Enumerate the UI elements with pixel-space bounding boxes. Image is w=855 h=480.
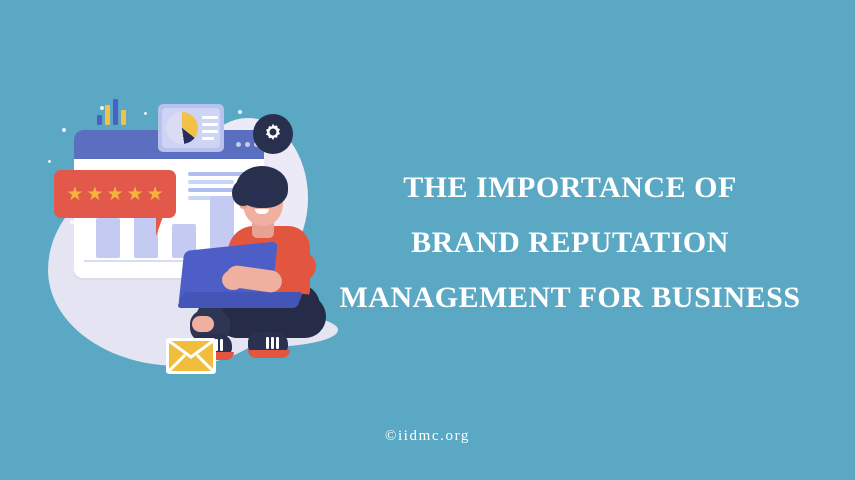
sparkle-dot	[238, 110, 242, 114]
shoe-stripe	[266, 337, 269, 349]
star-icon: ★	[147, 185, 164, 204]
page-title: THE IMPORTANCE OF BRAND REPUTATION MANAG…	[310, 160, 830, 325]
person-brow	[265, 191, 274, 193]
pie-legend-line	[202, 116, 218, 119]
pie-legend-line	[202, 137, 214, 140]
person-ankle	[192, 316, 214, 332]
person-shoe-right	[248, 332, 290, 358]
star-icon: ★	[106, 185, 123, 204]
envelope-flap-icon	[169, 341, 213, 371]
sparkle-dot	[144, 112, 147, 115]
window-dot	[236, 142, 241, 147]
star-icon: ★	[86, 185, 103, 204]
bar-chart-icon-bar	[105, 105, 110, 125]
sparkle-dot	[100, 106, 104, 110]
dashboard-text-line	[188, 180, 234, 184]
star-rating-icon: ★ ★ ★ ★ ★	[54, 170, 176, 218]
person-hand	[222, 270, 244, 290]
bar-chart-icon-bar	[121, 110, 126, 125]
hero-illustration: ★ ★ ★ ★ ★	[40, 88, 340, 388]
dashboard-bar	[96, 218, 120, 258]
dashboard-text-line	[188, 172, 246, 176]
bar-chart-icon-bar	[97, 115, 102, 125]
shoe-stripe	[220, 339, 223, 351]
title-line-1: THE IMPORTANCE OF	[310, 160, 830, 215]
pie-legend-line	[202, 130, 218, 133]
title-line-2: BRAND REPUTATION	[310, 215, 830, 270]
gear-icon	[261, 122, 285, 146]
sparkle-dot	[62, 128, 66, 132]
gear-badge	[253, 114, 293, 154]
pie-legend-line	[202, 123, 218, 126]
poster-canvas: ★ ★ ★ ★ ★	[0, 0, 855, 480]
person-eye	[252, 196, 256, 201]
pie-chart-icon	[166, 112, 198, 144]
star-icon: ★	[66, 185, 83, 204]
shoe-sole	[248, 350, 290, 358]
shoe-stripe	[276, 337, 279, 349]
window-dot	[245, 142, 250, 147]
footer-watermark: ©iidmc.org	[0, 428, 855, 445]
envelope-icon	[166, 338, 216, 374]
star-icon: ★	[127, 185, 144, 204]
bar-chart-icon-bar	[113, 99, 118, 125]
laptop-base	[177, 292, 303, 308]
person-brow	[250, 191, 259, 193]
sparkle-dot	[48, 160, 51, 163]
person-hair-side	[232, 180, 254, 206]
title-line-3: MANAGEMENT FOR BUSINESS	[310, 270, 830, 325]
shoe-stripe	[271, 337, 274, 349]
person-eye	[266, 196, 270, 201]
